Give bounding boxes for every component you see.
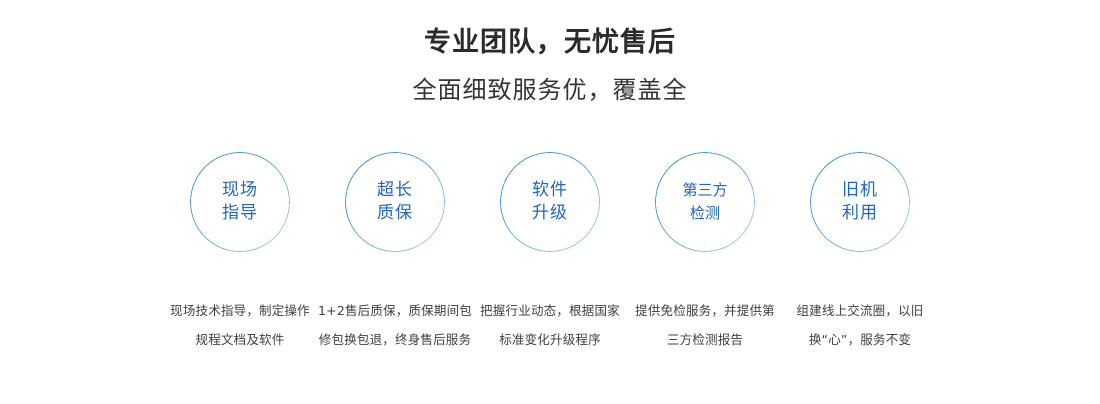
feature-caption-line2: 标准变化升级程序 [467, 325, 633, 354]
circle-label: 软件 升级 [500, 152, 600, 252]
feature-caption-line1: 提供免检服务，并提供第 [622, 296, 788, 325]
feature-caption-line1: 1+2售后质保，质保期间包 [312, 296, 478, 325]
feature-caption: 把握行业动态，根据国家 标准变化升级程序 [467, 296, 633, 354]
circle-label-line1: 旧机 [842, 179, 878, 202]
page-subtitle: 全面细致服务优，覆盖全 [0, 74, 1100, 106]
circle-label: 旧机 利用 [810, 152, 910, 252]
feature-item-software-upgrade[interactable]: 软件 升级 把握行业动态，根据国家 标准变化升级程序 [500, 152, 600, 354]
circle-label-line1: 第三方 [682, 179, 727, 202]
circle-label: 现场 指导 [190, 152, 290, 252]
section-heading: 专业团队，无忧售后 全面细致服务优，覆盖全 [0, 0, 1100, 106]
feature-caption: 现场技术指导，制定操作 规程文档及软件 [157, 296, 323, 354]
feature-circle[interactable]: 旧机 利用 [810, 152, 910, 252]
feature-caption-line2: 修包换包退，终身售后服务 [312, 325, 478, 354]
circle-label-line1: 软件 [532, 179, 568, 202]
feature-caption: 提供免检服务，并提供第 三方检测报告 [622, 296, 788, 354]
circle-label-line1: 现场 [222, 179, 258, 202]
feature-caption-line1: 组建线上交流圈，以旧 [777, 296, 943, 325]
feature-caption-line1: 现场技术指导，制定操作 [157, 296, 323, 325]
feature-item-extended-warranty[interactable]: 超长 质保 1+2售后质保，质保期间包 修包换包退，终身售后服务 [345, 152, 445, 354]
feature-item-old-machine-reuse[interactable]: 旧机 利用 组建线上交流圈，以旧 换“心”，服务不变 [810, 152, 910, 354]
circle-label-line2: 检测 [690, 202, 720, 225]
feature-item-onsite-guidance[interactable]: 现场 指导 现场技术指导，制定操作 规程文档及软件 [190, 152, 290, 354]
feature-circle[interactable]: 第三方 检测 [655, 152, 755, 252]
feature-caption-line2: 规程文档及软件 [157, 325, 323, 354]
feature-caption-line2: 三方检测报告 [622, 325, 788, 354]
feature-circle[interactable]: 超长 质保 [345, 152, 445, 252]
feature-caption: 1+2售后质保，质保期间包 修包换包退，终身售后服务 [312, 296, 478, 354]
feature-circle[interactable]: 软件 升级 [500, 152, 600, 252]
feature-caption-line2: 换“心”，服务不变 [777, 325, 943, 354]
feature-list: 现场 指导 现场技术指导，制定操作 规程文档及软件 超长 质保 1+2售后质保，… [0, 152, 1100, 354]
circle-label-line2: 升级 [532, 202, 568, 225]
feature-item-third-party-inspection[interactable]: 第三方 检测 提供免检服务，并提供第 三方检测报告 [655, 152, 755, 354]
circle-label-line2: 质保 [377, 202, 413, 225]
circle-label: 第三方 检测 [655, 152, 755, 252]
circle-label-line2: 利用 [842, 202, 878, 225]
feature-caption: 组建线上交流圈，以旧 换“心”，服务不变 [777, 296, 943, 354]
page-title: 专业团队，无忧售后 [0, 26, 1100, 60]
circle-label-line1: 超长 [377, 179, 413, 202]
feature-caption-line1: 把握行业动态，根据国家 [467, 296, 633, 325]
circle-label-line2: 指导 [222, 202, 258, 225]
after-sales-service-section: 专业团队，无忧售后 全面细致服务优，覆盖全 现场 指导 现场技术指导，制定操作 … [0, 0, 1100, 404]
feature-circle[interactable]: 现场 指导 [190, 152, 290, 252]
circle-label: 超长 质保 [345, 152, 445, 252]
